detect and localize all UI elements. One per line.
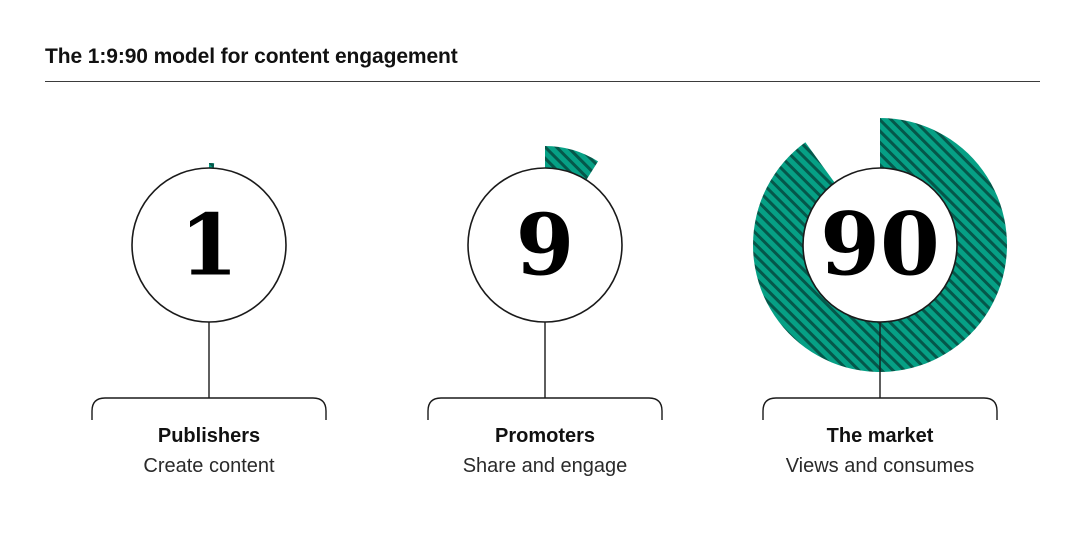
- stage-group-promoters[interactable]: 9 Promoters Share and engage: [428, 146, 662, 477]
- stage-title-the-market: The market: [827, 425, 934, 447]
- stage-group-the-market[interactable]: 90 The market Views and consumes: [753, 118, 1007, 477]
- bracket-the-market: [763, 398, 997, 420]
- stage-number-the-market: 90: [820, 195, 940, 296]
- diagram-canvas: 1 Publishers Create content 9 Promoters …: [0, 0, 1080, 533]
- stage-group-publishers[interactable]: 1 Publishers Create content: [92, 163, 326, 477]
- stage-number-promoters: 9: [516, 196, 574, 295]
- bracket-promoters: [428, 398, 662, 420]
- stage-subtitle-promoters: Share and engage: [463, 455, 628, 477]
- bracket-publishers: [92, 398, 326, 420]
- stage-number-publishers: 1: [180, 196, 238, 295]
- stage-title-promoters: Promoters: [495, 425, 595, 447]
- stage-title-publishers: Publishers: [158, 425, 260, 447]
- engagement-model-diagram: 1 Publishers Create content 9 Promoters …: [0, 0, 1080, 533]
- stage-subtitle-the-market: Views and consumes: [786, 455, 975, 477]
- stage-subtitle-publishers: Create content: [143, 455, 275, 477]
